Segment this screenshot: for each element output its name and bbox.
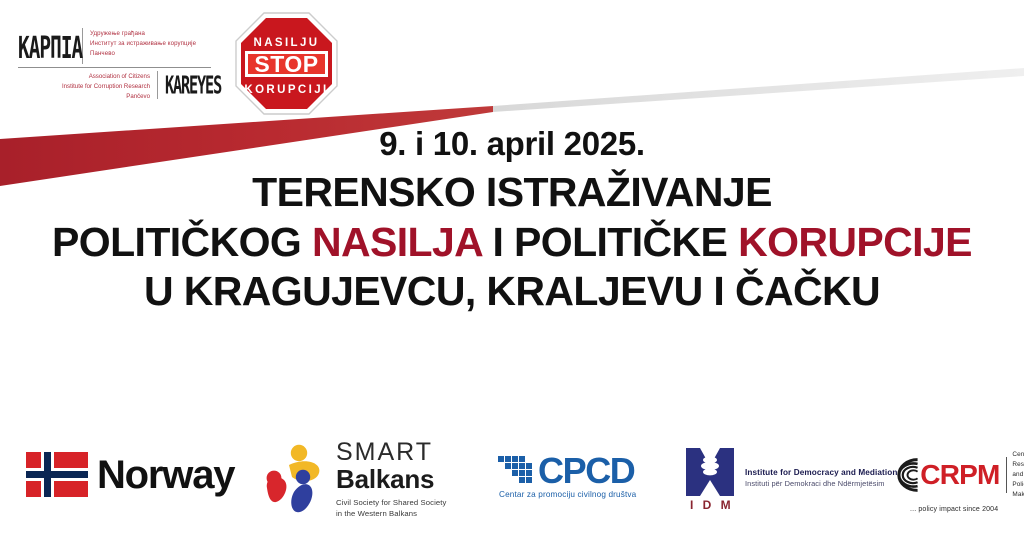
org-logo-english-block: Association of Citizens Institute for Co… [18, 70, 150, 102]
org-logo-divider-2 [157, 71, 158, 99]
idm-name-albanian: Instituti për Demokraci dhe Ndërmjetësim [745, 479, 897, 489]
headline-line-2-accent-korupcije: KORUPCIJE [738, 219, 972, 265]
norway-logo: Norway [26, 452, 234, 497]
svg-text:I D M: I D M [690, 498, 734, 510]
crpm-divider [1006, 457, 1007, 493]
crpm-subtitle-line-3: Policy [1012, 480, 1024, 490]
org-logo-serbian-line-3: Панчево [90, 49, 196, 59]
kapcia-org-logo: КАРПIА Удружење грађана Институт за истр… [18, 26, 233, 98]
headline-line-2: POLITIČKOG NASILJA I POLITIČKE KORUPCIJE [0, 219, 1024, 267]
org-logo-serbian-line-1: Удружење грађана [90, 29, 196, 39]
smart-balkans-subtitle-line-2: in the Western Balkans [336, 508, 446, 519]
stop-sign-bottom-label: KORUPCIJI [244, 84, 328, 96]
org-logo-serbian-line-2: Институт за истраживање корупције [90, 39, 196, 49]
headline-line-2-part-c: I POLITIČKE [482, 219, 738, 265]
org-logo-wordmark: КАРПIА [18, 26, 71, 64]
crpm-logo: CRPM Center for Research and Policy Maki… [880, 450, 1024, 513]
crpm-subtitle-line-4: Making [1012, 490, 1024, 500]
org-logo-horizontal-rule [18, 67, 211, 68]
norway-wordmark: Norway [97, 455, 234, 495]
stop-sign-main-label: STOP [254, 51, 318, 77]
idm-emblem-icon: I D M [682, 446, 738, 510]
cpcd-subtitle: Centar za promociju civilnog društva [499, 490, 636, 499]
cpcd-logo: CPCD Centar za promociju civilnog društv… [498, 454, 636, 499]
cpcd-main-row: CPCD [498, 454, 636, 487]
smart-balkans-text-block: SMART Balkans Civil Society for Shared S… [336, 440, 446, 519]
event-date: 9. i 10. april 2025. [0, 126, 1024, 163]
org-logo-english-line-2: Institute for Corruption Research [18, 82, 150, 92]
crpm-concentric-waves-icon [880, 454, 919, 496]
org-logo-top-row: КАРПIА Удружење грађана Институт за истр… [18, 26, 233, 66]
org-logo-english-line-1: Association of Citizens [18, 72, 150, 82]
crpm-wordmark: CRPM [920, 461, 999, 489]
headline-line-2-part-a: POLITIČKOG [52, 219, 312, 265]
crpm-subtitle-line-2: Research and [1012, 460, 1024, 480]
idm-logo: I D M Institute for Democracy and Mediat… [682, 446, 897, 510]
smart-balkans-subtitle: Civil Society for Shared Society in the … [336, 497, 446, 519]
crpm-subtitle-block: Center for Research and Policy Making [1012, 450, 1024, 500]
smart-balkans-line-1: SMART [336, 440, 446, 465]
donor-logo-strip: Norway SMART Balkans Civil Society for S… [0, 432, 1024, 535]
headline-block: 9. i 10. april 2025. TERENSKO ISTRAŽIVAN… [0, 126, 1024, 316]
org-logo-bottom-row: Association of Citizens Institute for Co… [18, 70, 233, 100]
crpm-tagline: ... policy impact since 2004 [910, 506, 1024, 513]
headline-line-2-accent-nasilja: NASILJA [312, 219, 482, 265]
stop-sign-top-label: NASILJU [253, 37, 319, 49]
smart-balkans-line-2: Balkans [336, 466, 446, 492]
smart-balkans-people-icon [262, 443, 328, 517]
org-logo-serbian-block: Удружење грађана Институт за истраживање… [90, 26, 196, 59]
grey-sliver [493, 68, 1024, 112]
headline-line-3: U KRAGUJEVCU, KRALJEVU I ČAČKU [0, 268, 1024, 316]
smart-balkans-subtitle-line-1: Civil Society for Shared Society [336, 497, 446, 508]
org-logo-wordmark-secondary: KAREYES [165, 70, 221, 98]
idm-name-english: Institute for Democracy and Mediation [745, 467, 897, 478]
smart-balkans-logo: SMART Balkans Civil Society for Shared S… [262, 440, 446, 519]
poster-canvas: КАРПIА Удружење грађана Институт за истр… [0, 0, 1024, 535]
norway-flag-blue-horizontal [26, 471, 88, 478]
stop-sign-icon: NASILJU STOP KORUPCIJI [233, 10, 340, 117]
crpm-main-row: CRPM Center for Research and Policy Maki… [880, 450, 1024, 500]
cpcd-pixel-grid-icon [498, 456, 536, 486]
headline-line-1: TERENSKO ISTRAŽIVANJE [0, 169, 1024, 217]
norway-flag-icon [26, 452, 88, 497]
cpcd-wordmark: CPCD [538, 454, 634, 487]
org-logo-english-line-3: Pančevo [18, 92, 150, 102]
crpm-subtitle-line-1: Center for [1012, 450, 1024, 460]
idm-text-block: Institute for Democracy and Mediation In… [745, 467, 897, 488]
